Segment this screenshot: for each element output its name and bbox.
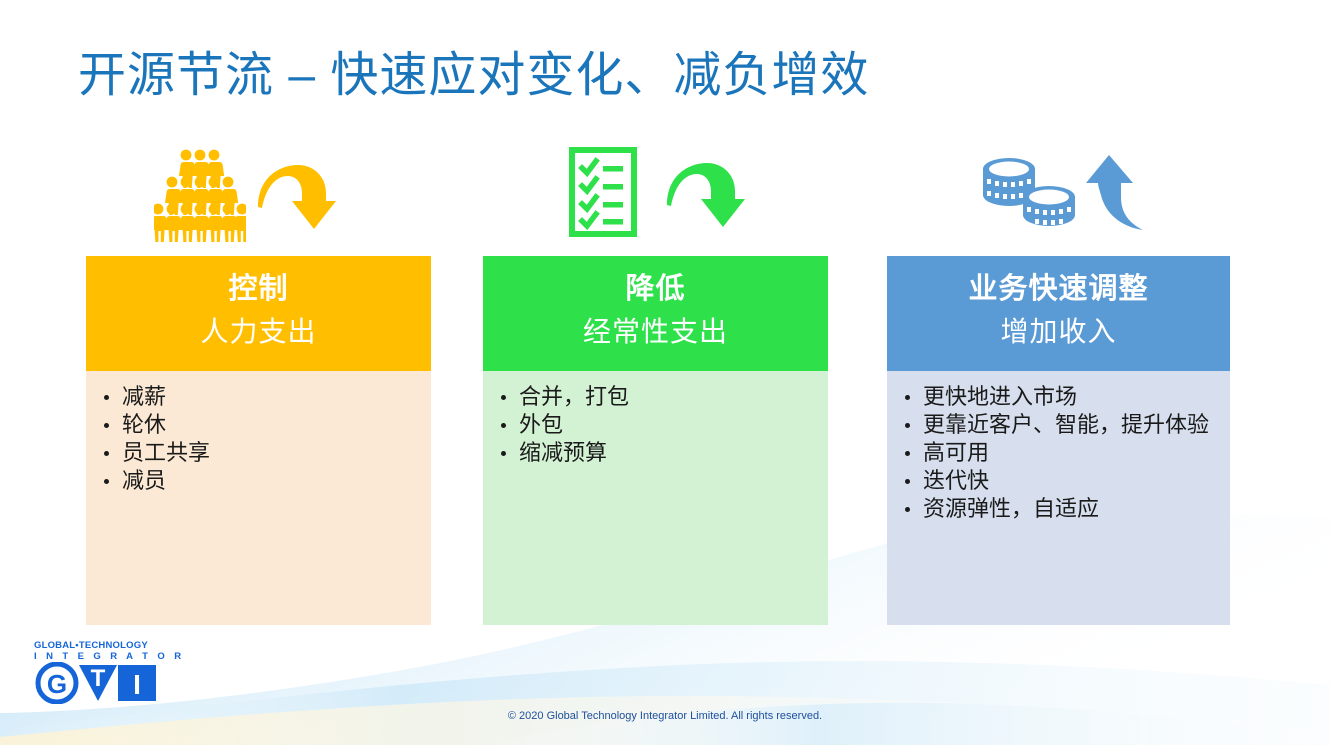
curved-down-arrow-icon xyxy=(665,161,745,233)
checklist-icon xyxy=(569,147,637,237)
gti-logo: GLOBAL•TECHNOLOGY I N T E G R A T O R G … xyxy=(34,640,159,702)
column-1-icon-row xyxy=(86,141,431,256)
svg-text:T: T xyxy=(91,665,106,692)
column-1-bullet-list: 减薪 轮休 员工共享 减员 xyxy=(96,383,421,494)
list-item: 更靠近客户、智能，提升体验 xyxy=(897,411,1220,438)
list-item: 迭代快 xyxy=(897,467,1220,494)
list-item: 减员 xyxy=(96,467,421,494)
column-3-bullet-list: 更快地进入市场 更靠近客户、智能，提升体验 高可用 迭代快 资源弹性，自适应 xyxy=(897,383,1220,522)
list-item: 高可用 xyxy=(897,439,1220,466)
curved-up-arrow-icon xyxy=(1083,153,1155,233)
column-3-heading: 业务快速调整 xyxy=(887,268,1230,310)
column-2-subheading: 经常性支出 xyxy=(483,310,828,354)
column-2-icon-row xyxy=(483,141,828,256)
list-item: 资源弹性，自适应 xyxy=(897,495,1220,522)
three-column-layout: 控制 人力支出 减薪 轮休 员工共享 减员 xyxy=(0,0,1330,745)
column-1-subheading: 人力支出 xyxy=(86,310,431,354)
column-reduce-opex: 降低 经常性支出 合并，打包 外包 缩减预算 xyxy=(483,141,828,625)
column-2-body: 合并，打包 外包 缩减预算 xyxy=(483,371,828,625)
column-2-header: 降低 经常性支出 xyxy=(483,256,828,371)
curved-down-arrow-icon xyxy=(256,163,336,235)
column-3-icon-row xyxy=(887,141,1230,256)
list-item: 合并，打包 xyxy=(493,383,818,410)
logo-tagline-line1: GLOBAL•TECHNOLOGY xyxy=(34,640,159,651)
svg-text:I: I xyxy=(133,669,141,700)
list-item: 轮休 xyxy=(96,411,421,438)
logo-tagline-line2: I N T E G R A T O R xyxy=(34,651,159,662)
column-2-heading: 降低 xyxy=(483,268,828,310)
footer-copyright: © 2020 Global Technology Integrator Limi… xyxy=(0,710,1330,722)
gti-logo-mark: G T I xyxy=(34,662,159,704)
column-control-headcount: 控制 人力支出 减薪 轮休 员工共享 减员 xyxy=(86,141,431,625)
svg-text:G: G xyxy=(47,669,67,699)
coin-stack-icon xyxy=(979,153,1079,233)
people-pyramid-icon xyxy=(154,149,246,244)
list-item: 员工共享 xyxy=(96,439,421,466)
list-item: 减薪 xyxy=(96,383,421,410)
column-3-body: 更快地进入市场 更靠近客户、智能，提升体验 高可用 迭代快 资源弹性，自适应 xyxy=(887,371,1230,625)
column-1-heading: 控制 xyxy=(86,268,431,310)
column-3-header: 业务快速调整 增加收入 xyxy=(887,256,1230,371)
column-1-body: 减薪 轮休 员工共享 减员 xyxy=(86,371,431,625)
list-item: 更快地进入市场 xyxy=(897,383,1220,410)
list-item: 外包 xyxy=(493,411,818,438)
column-business-agility: 业务快速调整 增加收入 更快地进入市场 更靠近客户、智能，提升体验 高可用 迭代… xyxy=(887,141,1230,625)
column-1-header: 控制 人力支出 xyxy=(86,256,431,371)
column-3-subheading: 增加收入 xyxy=(887,310,1230,354)
list-item: 缩减预算 xyxy=(493,439,818,466)
column-2-bullet-list: 合并，打包 外包 缩减预算 xyxy=(493,383,818,466)
